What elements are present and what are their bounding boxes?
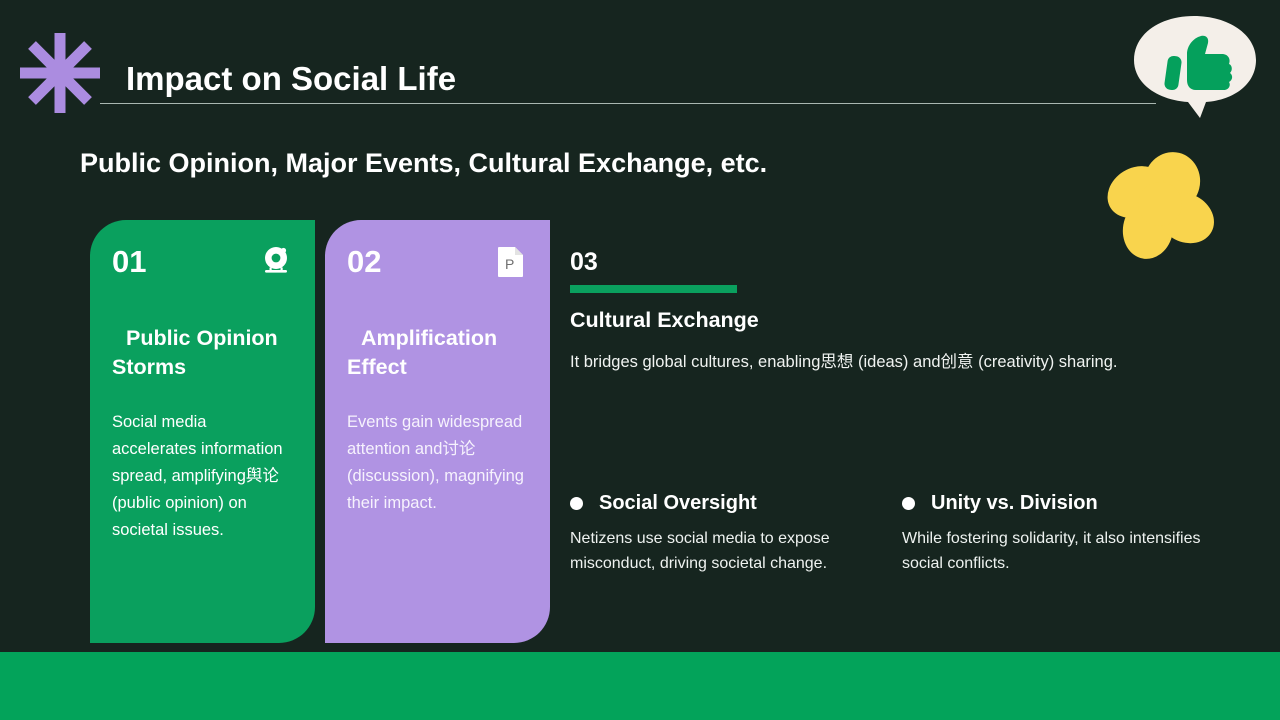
bullet-header: Social Oversight [570,492,880,515]
card-body: Social media accelerates information spr… [112,409,293,544]
card-header: 01 [112,246,293,278]
bullet-body: Netizens use social media to expose misc… [570,526,880,577]
bullet-title: Unity vs. Division [931,492,1098,515]
card-body: Events gain widespread attention and讨论 (… [347,409,528,517]
header-divider [100,103,1156,104]
card-header: 02 P [347,246,528,278]
svg-text:P: P [505,256,514,272]
slide-root: Impact on Social Life Public Opinion, Ma… [0,0,1280,720]
bullet-body: While fostering solidarity, it also inte… [902,526,1202,577]
asterisk-icon [18,31,102,115]
card-amplification-effect[interactable]: 02 P Amplification Effect Events gain wi… [325,220,550,643]
section-body: It bridges global cultures, enabling思想 (… [570,349,1140,376]
bullet-dot-icon [902,497,915,510]
card-title: Amplification Effect [347,324,528,381]
section-cultural-exchange: 03 Cultural Exchange It bridges global c… [570,250,1230,376]
card-title: Public Opinion Storms [112,324,293,381]
bullet-dot-icon [570,497,583,510]
card-public-opinion-storms[interactable]: 01 Public Opinion Storms Social media ac… [90,220,315,643]
section-title: Cultural Exchange [570,308,1230,333]
webcam-icon [259,244,293,278]
section-accent-bar [570,285,737,293]
page-subtitle: Public Opinion, Major Events, Cultural E… [80,148,767,179]
bullet-title: Social Oversight [599,492,757,515]
card-number: 01 [112,246,146,277]
bullet-social-oversight: Social Oversight Netizens use social med… [570,492,880,577]
page-title: Impact on Social Life [126,60,456,98]
bullet-unity-vs-division: Unity vs. Division While fostering solid… [902,492,1202,577]
card-number: 02 [347,246,381,277]
presentation-file-icon: P [494,244,528,278]
bullet-header: Unity vs. Division [902,492,1202,515]
footer-bar [0,652,1280,720]
section-number: 03 [570,250,1230,275]
speech-bubble-thumbs-up-icon [1130,14,1258,122]
four-petal-flower-icon [1098,152,1222,260]
